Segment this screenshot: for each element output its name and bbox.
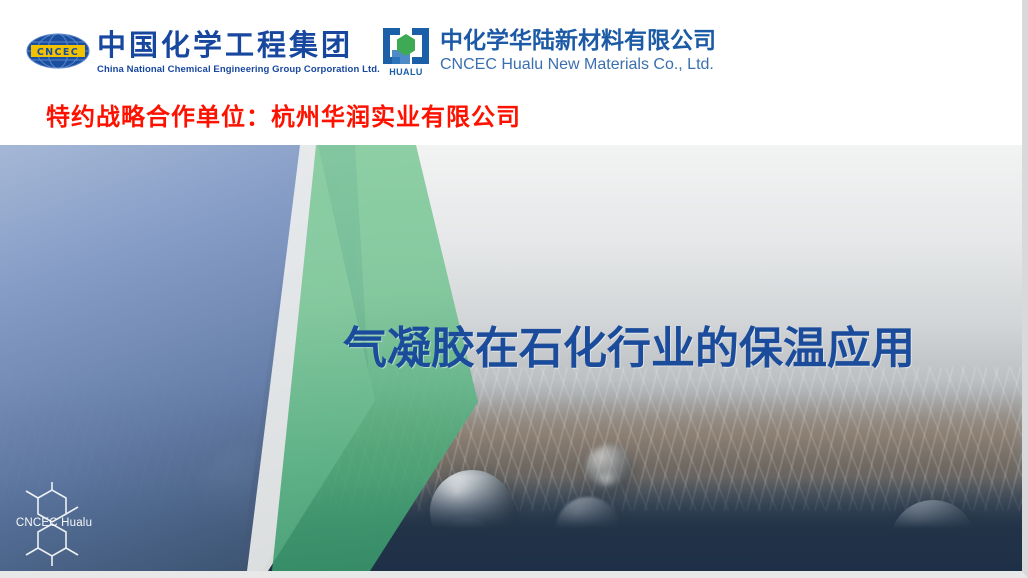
logo-row: CNCEC 中国化学工程集团 China National Chemical E… — [0, 22, 1022, 82]
presentation-slide: CNCEC 中国化学工程集团 China National Chemical E… — [0, 0, 1028, 578]
hero-photo: 气凝胶在石化行业的保温应用 CNCEC Hualu — [0, 145, 1022, 571]
page-title: 气凝胶在石化行业的保温应用 — [343, 323, 915, 375]
slide-header: CNCEC 中国化学工程集团 China National Chemical E… — [0, 0, 1022, 145]
hualu-logo: HUALU 中化学华陆新材料有限公司 CNCEC Hualu New Mater… — [380, 26, 670, 82]
cncec-logo-en-name: China National Chemical Engineering Grou… — [97, 64, 380, 75]
cncec-globe-icon: CNCEC — [25, 32, 91, 70]
strategic-partner-line: 特约战略合作单位：杭州华润实业有限公司 — [46, 97, 521, 132]
svg-text:CNCEC: CNCEC — [37, 47, 79, 58]
cncec-logo: CNCEC 中国化学工程集团 China National Chemical E… — [25, 28, 321, 80]
cncec-logo-cn-name: 中国化学工程集团 — [97, 28, 353, 62]
watermark-label: CNCEC Hualu — [8, 517, 100, 529]
hualu-logo-en-name: CNCEC Hualu New Materials Co., Ltd. — [440, 56, 714, 74]
hualu-logo-cn-name: 中化学华陆新材料有限公司 — [440, 27, 716, 55]
hualu-wordmark: HUALU — [381, 67, 431, 77]
